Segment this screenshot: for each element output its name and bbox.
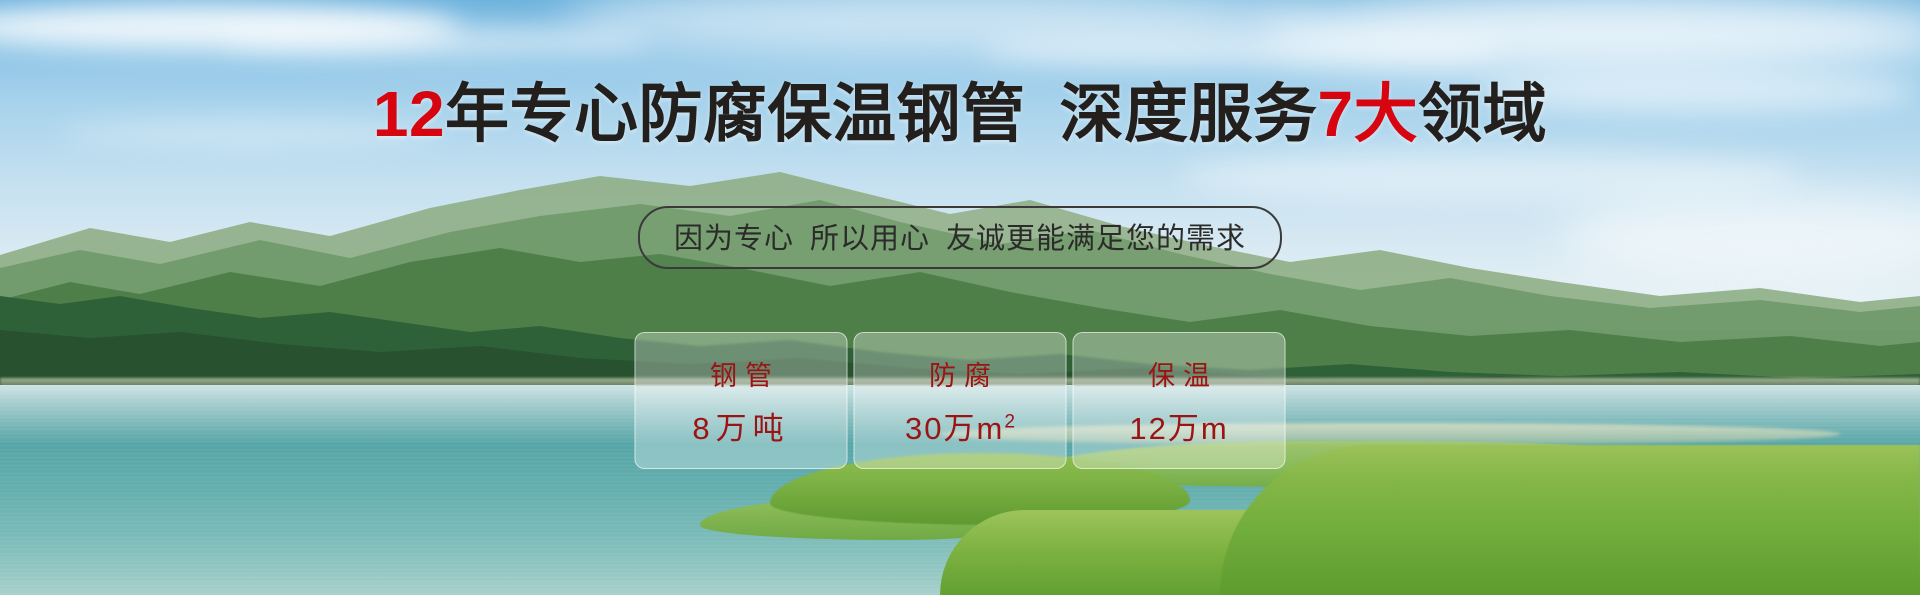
stat-card-anticorrosion[interactable]: 防腐 30万m2: [854, 332, 1067, 469]
stat-card-steel-pipe[interactable]: 钢管 8万吨: [635, 332, 848, 469]
headline-fields-number: 7大: [1318, 78, 1419, 150]
stat-card-value: 12万m: [1129, 403, 1228, 448]
stat-card-value: 8万吨: [692, 403, 789, 448]
stat-card-value-superscript: 2: [1004, 411, 1015, 432]
headline-service-text: 深度服务: [1060, 78, 1318, 150]
subtitle-part-1: 因为专心: [674, 223, 794, 255]
grass-bank: [1220, 445, 1920, 595]
subtitle-part-2: 所以用心: [810, 223, 930, 255]
banner-subtitle-pill: 因为专心所以用心友诚更能满足您的需求: [638, 206, 1282, 269]
headline-years-number: 12: [373, 78, 445, 150]
stat-card-value: 30万m2: [905, 403, 1015, 448]
promo-banner: 12年专心防腐保温钢管深度服务7大领域 因为专心所以用心友诚更能满足您的需求 钢…: [0, 0, 1920, 595]
stat-card-label: 钢管: [702, 354, 780, 393]
headline-fields-text: 领域: [1418, 78, 1547, 150]
stat-card-value-main: 8万吨: [692, 411, 789, 446]
stat-card-label: 防腐: [921, 354, 999, 393]
stat-card-group: 钢管 8万吨 防腐 30万m2 保温 12万m: [635, 332, 1286, 469]
stat-card-value-main: 30万m: [905, 411, 1004, 446]
headline-main-text: 年专心防腐保温钢管: [445, 78, 1026, 150]
stat-card-label: 保温: [1140, 354, 1218, 393]
stat-card-insulation[interactable]: 保温 12万m: [1073, 332, 1286, 469]
subtitle-part-3: 友诚更能满足您的需求: [946, 223, 1246, 255]
stat-card-value-main: 12万m: [1129, 411, 1228, 446]
banner-headline: 12年专心防腐保温钢管深度服务7大领域: [0, 82, 1920, 146]
